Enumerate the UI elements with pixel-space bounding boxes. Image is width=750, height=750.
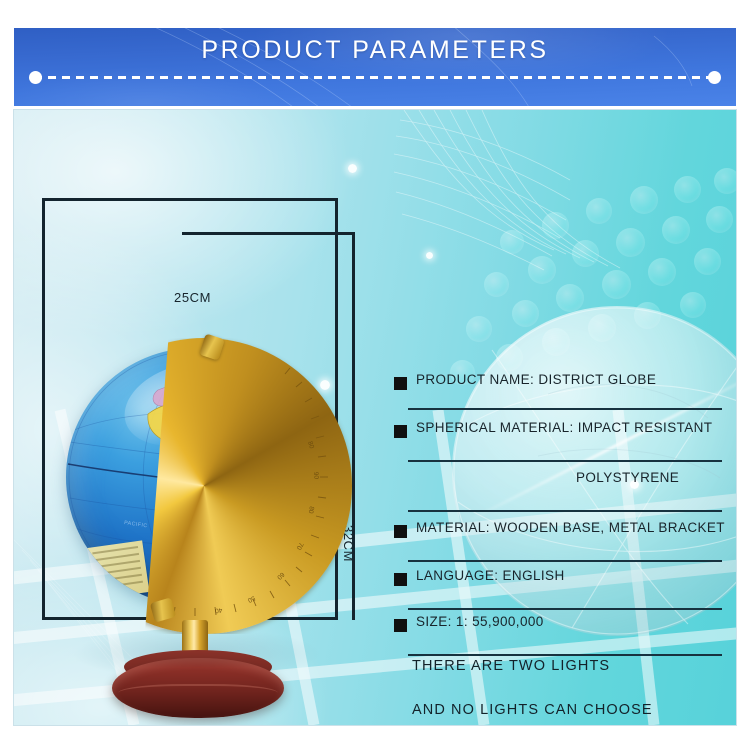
- product-parameters-infographic: PRODUCT PARAMETERS: [0, 0, 750, 750]
- spec-divider: [408, 560, 722, 562]
- spec-text: MATERIAL: WOODEN BASE, METAL BRACKET: [416, 520, 725, 535]
- svg-text:80: 80: [307, 506, 315, 515]
- spec-divider: [408, 654, 722, 656]
- square-bullet-icon: [394, 619, 407, 632]
- dimension-bracket-width-left: [42, 198, 45, 620]
- spec-divider: [408, 408, 722, 410]
- square-bullet-icon: [394, 573, 407, 586]
- square-bullet-icon: [394, 425, 407, 438]
- spec-text: POLYSTYRENE: [576, 470, 679, 485]
- spec-row: LANGUAGE: ENGLISH: [380, 564, 732, 602]
- spec-text: SIZE: 1: 55,900,000: [416, 614, 544, 629]
- banner-dashed-divider: [34, 76, 716, 79]
- divider-dot-right: [708, 71, 721, 84]
- spec-row-continuation: POLYSTYRENE: [380, 466, 732, 504]
- globe-base-ring: [118, 684, 278, 702]
- divider-dot-left: [29, 71, 42, 84]
- spec-text: PRODUCT NAME: DISTRICT GLOBE: [416, 372, 656, 387]
- spec-divider: [408, 510, 722, 512]
- product-photo-globe: NORTH ATLANTIC PACIFIC BRAZIL: [54, 332, 354, 725]
- spec-text: LANGUAGE: ENGLISH: [416, 568, 565, 583]
- page-title: PRODUCT PARAMETERS: [14, 36, 736, 65]
- globe-meridian-degree-marks: 80 90 80 70 60 50 40: [56, 338, 334, 616]
- content-panel: 25CM 32CM: [14, 110, 736, 725]
- spec-row: SIZE: 1: 55,900,000: [380, 610, 732, 648]
- svg-text:90: 90: [312, 472, 320, 480]
- svg-text:40: 40: [214, 606, 223, 614]
- sparkle-dot: [348, 164, 357, 173]
- sparkle-dot: [426, 252, 433, 259]
- dimension-label-width: 25CM: [174, 290, 211, 305]
- spec-text: SPHERICAL MATERIAL: IMPACT RESISTANT: [416, 420, 712, 435]
- spec-divider: [408, 460, 722, 462]
- header-banner: PRODUCT PARAMETERS: [14, 28, 736, 106]
- square-bullet-icon: [394, 525, 407, 538]
- spec-row: MATERIAL: WOODEN BASE, METAL BRACKET: [380, 516, 732, 554]
- square-bullet-icon: [394, 377, 407, 390]
- specifications-list: PRODUCT NAME: DISTRICT GLOBE SPHERICAL M…: [380, 368, 732, 648]
- svg-text:70: 70: [295, 541, 305, 551]
- spec-row: PRODUCT NAME: DISTRICT GLOBE: [380, 368, 732, 406]
- svg-text:50: 50: [246, 594, 256, 603]
- svg-text:60: 60: [275, 571, 285, 581]
- tagline-line-2: AND NO LIGHTS CAN CHOOSE: [412, 702, 653, 718]
- dimension-bracket-height-top: [182, 232, 355, 235]
- dimension-bracket-width-top: [42, 198, 338, 201]
- tagline-line-1: THERE ARE TWO LIGHTS: [412, 658, 610, 674]
- svg-text:80: 80: [306, 440, 315, 449]
- spec-row: SPHERICAL MATERIAL: IMPACT RESISTANT: [380, 416, 732, 454]
